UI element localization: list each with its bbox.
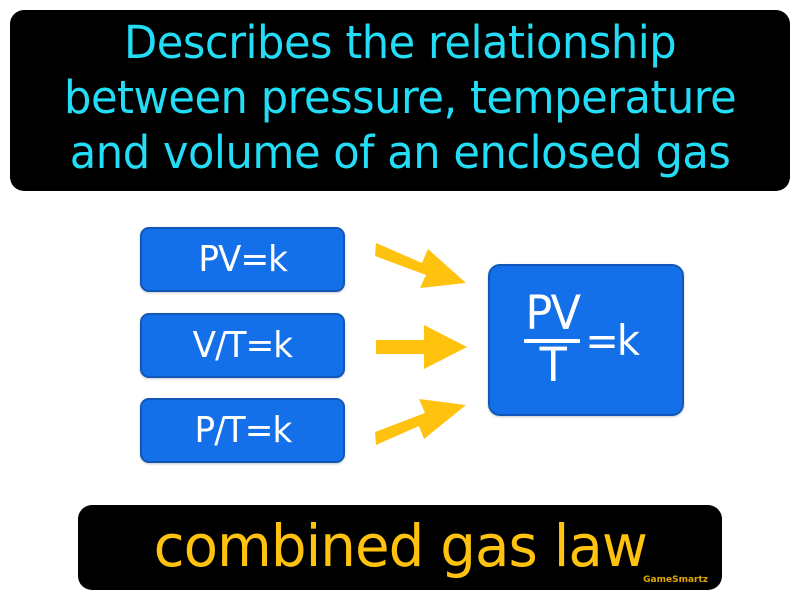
definition-text: Describes the relationship between press… [64, 16, 736, 181]
arrow-down-right-icon [374, 239, 470, 299]
term-banner: combined gas law GameSmartz [78, 505, 722, 590]
fraction-denominator: T [540, 344, 565, 388]
result-equation: PV T =k [524, 292, 640, 387]
law-box-vt-label: V/T=k [193, 325, 293, 366]
arrow-right-icon [374, 323, 470, 371]
gas-law-diagram: PV=k V/T=k P/T=k PV T =k [0, 195, 800, 495]
term-text: combined gas law [153, 517, 646, 575]
fraction-numerator: PV [525, 292, 579, 336]
result-equals-k: =k [586, 316, 639, 365]
law-box-pt-label: P/T=k [194, 410, 291, 451]
law-box-vt: V/T=k [140, 313, 345, 378]
law-box-pt: P/T=k [140, 398, 345, 463]
result-box-combined-law: PV T =k [488, 264, 684, 416]
fraction-pv-over-t: PV T [524, 292, 581, 387]
watermark-label: GameSmartz [643, 575, 708, 585]
law-box-pv-label: PV=k [198, 239, 287, 280]
arrow-up-right-icon [374, 389, 470, 449]
definition-banner: Describes the relationship between press… [10, 10, 790, 191]
law-box-pv: PV=k [140, 227, 345, 292]
